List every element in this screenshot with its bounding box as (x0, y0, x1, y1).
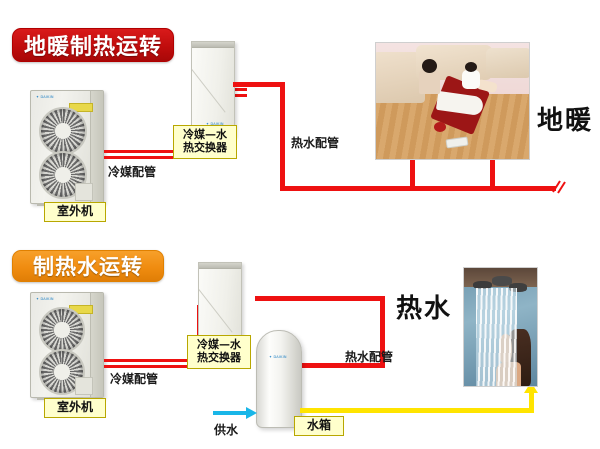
label-text: 室外机 (57, 205, 93, 219)
arrow-right-icon (246, 407, 257, 419)
photo-sofa (486, 48, 530, 78)
label-line-2: 热交换器 (197, 352, 241, 365)
water-tank-label: 水箱 (294, 416, 344, 436)
brand-mark: ✦ DAIKIN (269, 355, 287, 359)
hotwater-pipe-top-h (233, 82, 285, 87)
destination-label-heating: 地暖 (537, 100, 593, 137)
hotwater-pipe-label-heating: 热水配管 (291, 134, 339, 151)
outdoor-unit-label-heating: 室外机 (44, 202, 106, 222)
brand-mark: ✦ DAIKIN (36, 95, 54, 99)
hotwater-pipe-bottom-h (280, 186, 556, 191)
service-panel (75, 183, 93, 201)
hotwater-pipe-branch-2 (490, 158, 495, 188)
indoor-hydro-unit-heating: ✦ DAIKIN (191, 41, 235, 137)
water-tank: ✦ DAIKIN (256, 330, 302, 428)
heat-exchanger-label-hotwater: 冷媒—水 热交换器 (187, 335, 251, 369)
fan-icon (39, 107, 87, 155)
heat-exchanger-label-heating: 冷媒—水 热交换器 (173, 125, 237, 159)
label-text: 室外机 (57, 401, 93, 415)
service-panel (75, 377, 93, 395)
outdoor-unit-label-hotwater: 室外机 (44, 398, 106, 418)
refrigerant-pipe-label-heating: 冷媒配管 (108, 163, 156, 180)
refrigerant-pipe-lower-h2-hw (104, 365, 200, 368)
section-hotwater-badge: 制热水运转 (12, 250, 164, 282)
pipe-break-icon (550, 179, 566, 197)
label-line-2: 热交换器 (183, 142, 227, 155)
diagram-canvas: 地暖制热运转 ✦ DAIKIN 室外机 冷媒配管 ✦ DAIKIN 冷媒—水 热… (0, 0, 600, 449)
refrigerant-pipe-label-hotwater: 冷媒配管 (110, 370, 158, 387)
tank-outlet-pipe-h (300, 408, 534, 413)
label-text: 水箱 (307, 419, 331, 433)
hotwater-pipe-branch-1 (410, 158, 415, 188)
supply-water-label: 供水 (214, 421, 238, 438)
destination-label-hotwater: 热水 (396, 288, 452, 325)
outdoor-unit-hotwater: ✦ DAIKIN (30, 292, 104, 398)
floor-heating-photo (375, 42, 530, 160)
brand-mark: ✦ DAIKIN (36, 297, 54, 301)
supply-water-line (213, 411, 247, 415)
hot-water-shower-photo (463, 267, 538, 387)
fan-icon (39, 307, 85, 353)
hotwater-pipe-label-hotwater: 热水配管 (345, 348, 393, 365)
refrigerant-pipe-lower-h-hw (104, 359, 200, 362)
tank-outlet-pipe-v (529, 392, 534, 413)
hotwater-pipe-top-h-hw (255, 296, 385, 301)
photo-water-stream (476, 288, 517, 386)
photo-child-body (462, 70, 480, 90)
outdoor-unit-heating: ✦ DAIKIN (30, 90, 104, 204)
hotwater-pipe-down (280, 82, 285, 190)
section-heating-badge: 地暖制热运转 (12, 28, 174, 62)
photo-child-hair (465, 62, 477, 72)
